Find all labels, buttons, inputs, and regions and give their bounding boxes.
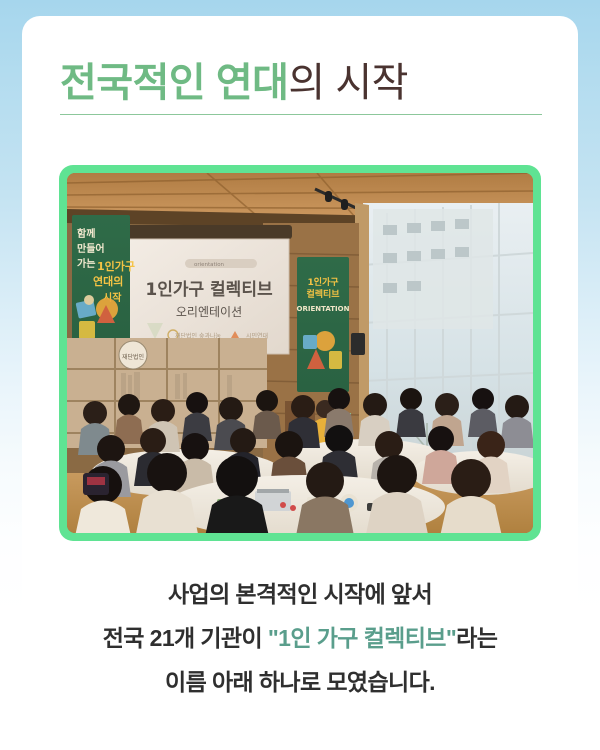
svg-text:오리엔테이션: 오리엔테이션 [176, 305, 242, 319]
caption-line-2-pre: 전국 21개 기관이 [103, 625, 268, 651]
svg-text:orientation: orientation [194, 262, 225, 268]
svg-text:1인가구: 1인가구 [97, 259, 135, 273]
title-accent-text: 전국적인 연대 [60, 61, 288, 105]
caption-highlight: "1인 가구 컬렉티브" [268, 625, 456, 651]
page-title: 전국적인 연대의 시작 [60, 58, 540, 115]
content-card: 전국적인 연대의 시작 [22, 16, 578, 750]
photo-frame: orientation 1인가구 컬렉티브 오리엔테이션 재단법인 숲과나눔 시… [59, 165, 541, 541]
event-photo: orientation 1인가구 컬렉티브 오리엔테이션 재단법인 숲과나눔 시… [67, 173, 533, 533]
svg-text:1인가구 컬렉티브: 1인가구 컬렉티브 [145, 280, 273, 300]
caption-line-2: 전국 21개 기관이 "1인 가구 컬렉티브"라는 [42, 616, 558, 660]
caption-line-2-post: 라는 [456, 625, 497, 651]
svg-text:가는: 가는 [77, 257, 95, 270]
svg-text:만들어: 만들어 [77, 242, 105, 255]
title-rest-text: 의 시작 [288, 61, 408, 105]
caption-line-3: 이름 아래 하나로 모였습니다. [42, 660, 558, 704]
title-text: 전국적인 연대의 시작 [60, 58, 540, 108]
caption-block: 사업의 본격적인 시작에 앞서 전국 21개 기관이 "1인 가구 컬렉티브"라… [42, 572, 558, 704]
title-divider [60, 114, 542, 115]
event-photo-illustration: orientation 1인가구 컬렉티브 오리엔테이션 재단법인 숲과나눔 시… [67, 173, 533, 533]
svg-text:컬렉티브: 컬렉티브 [306, 288, 340, 300]
caption-line-1: 사업의 본격적인 시작에 앞서 [42, 572, 558, 616]
svg-text:연대의: 연대의 [93, 274, 123, 288]
svg-text:ORIENTATION: ORIENTATION [297, 305, 350, 313]
svg-text:1인가구: 1인가구 [307, 276, 338, 288]
svg-text:재단법인: 재단법인 [122, 353, 144, 361]
svg-text:함께: 함께 [77, 227, 95, 240]
